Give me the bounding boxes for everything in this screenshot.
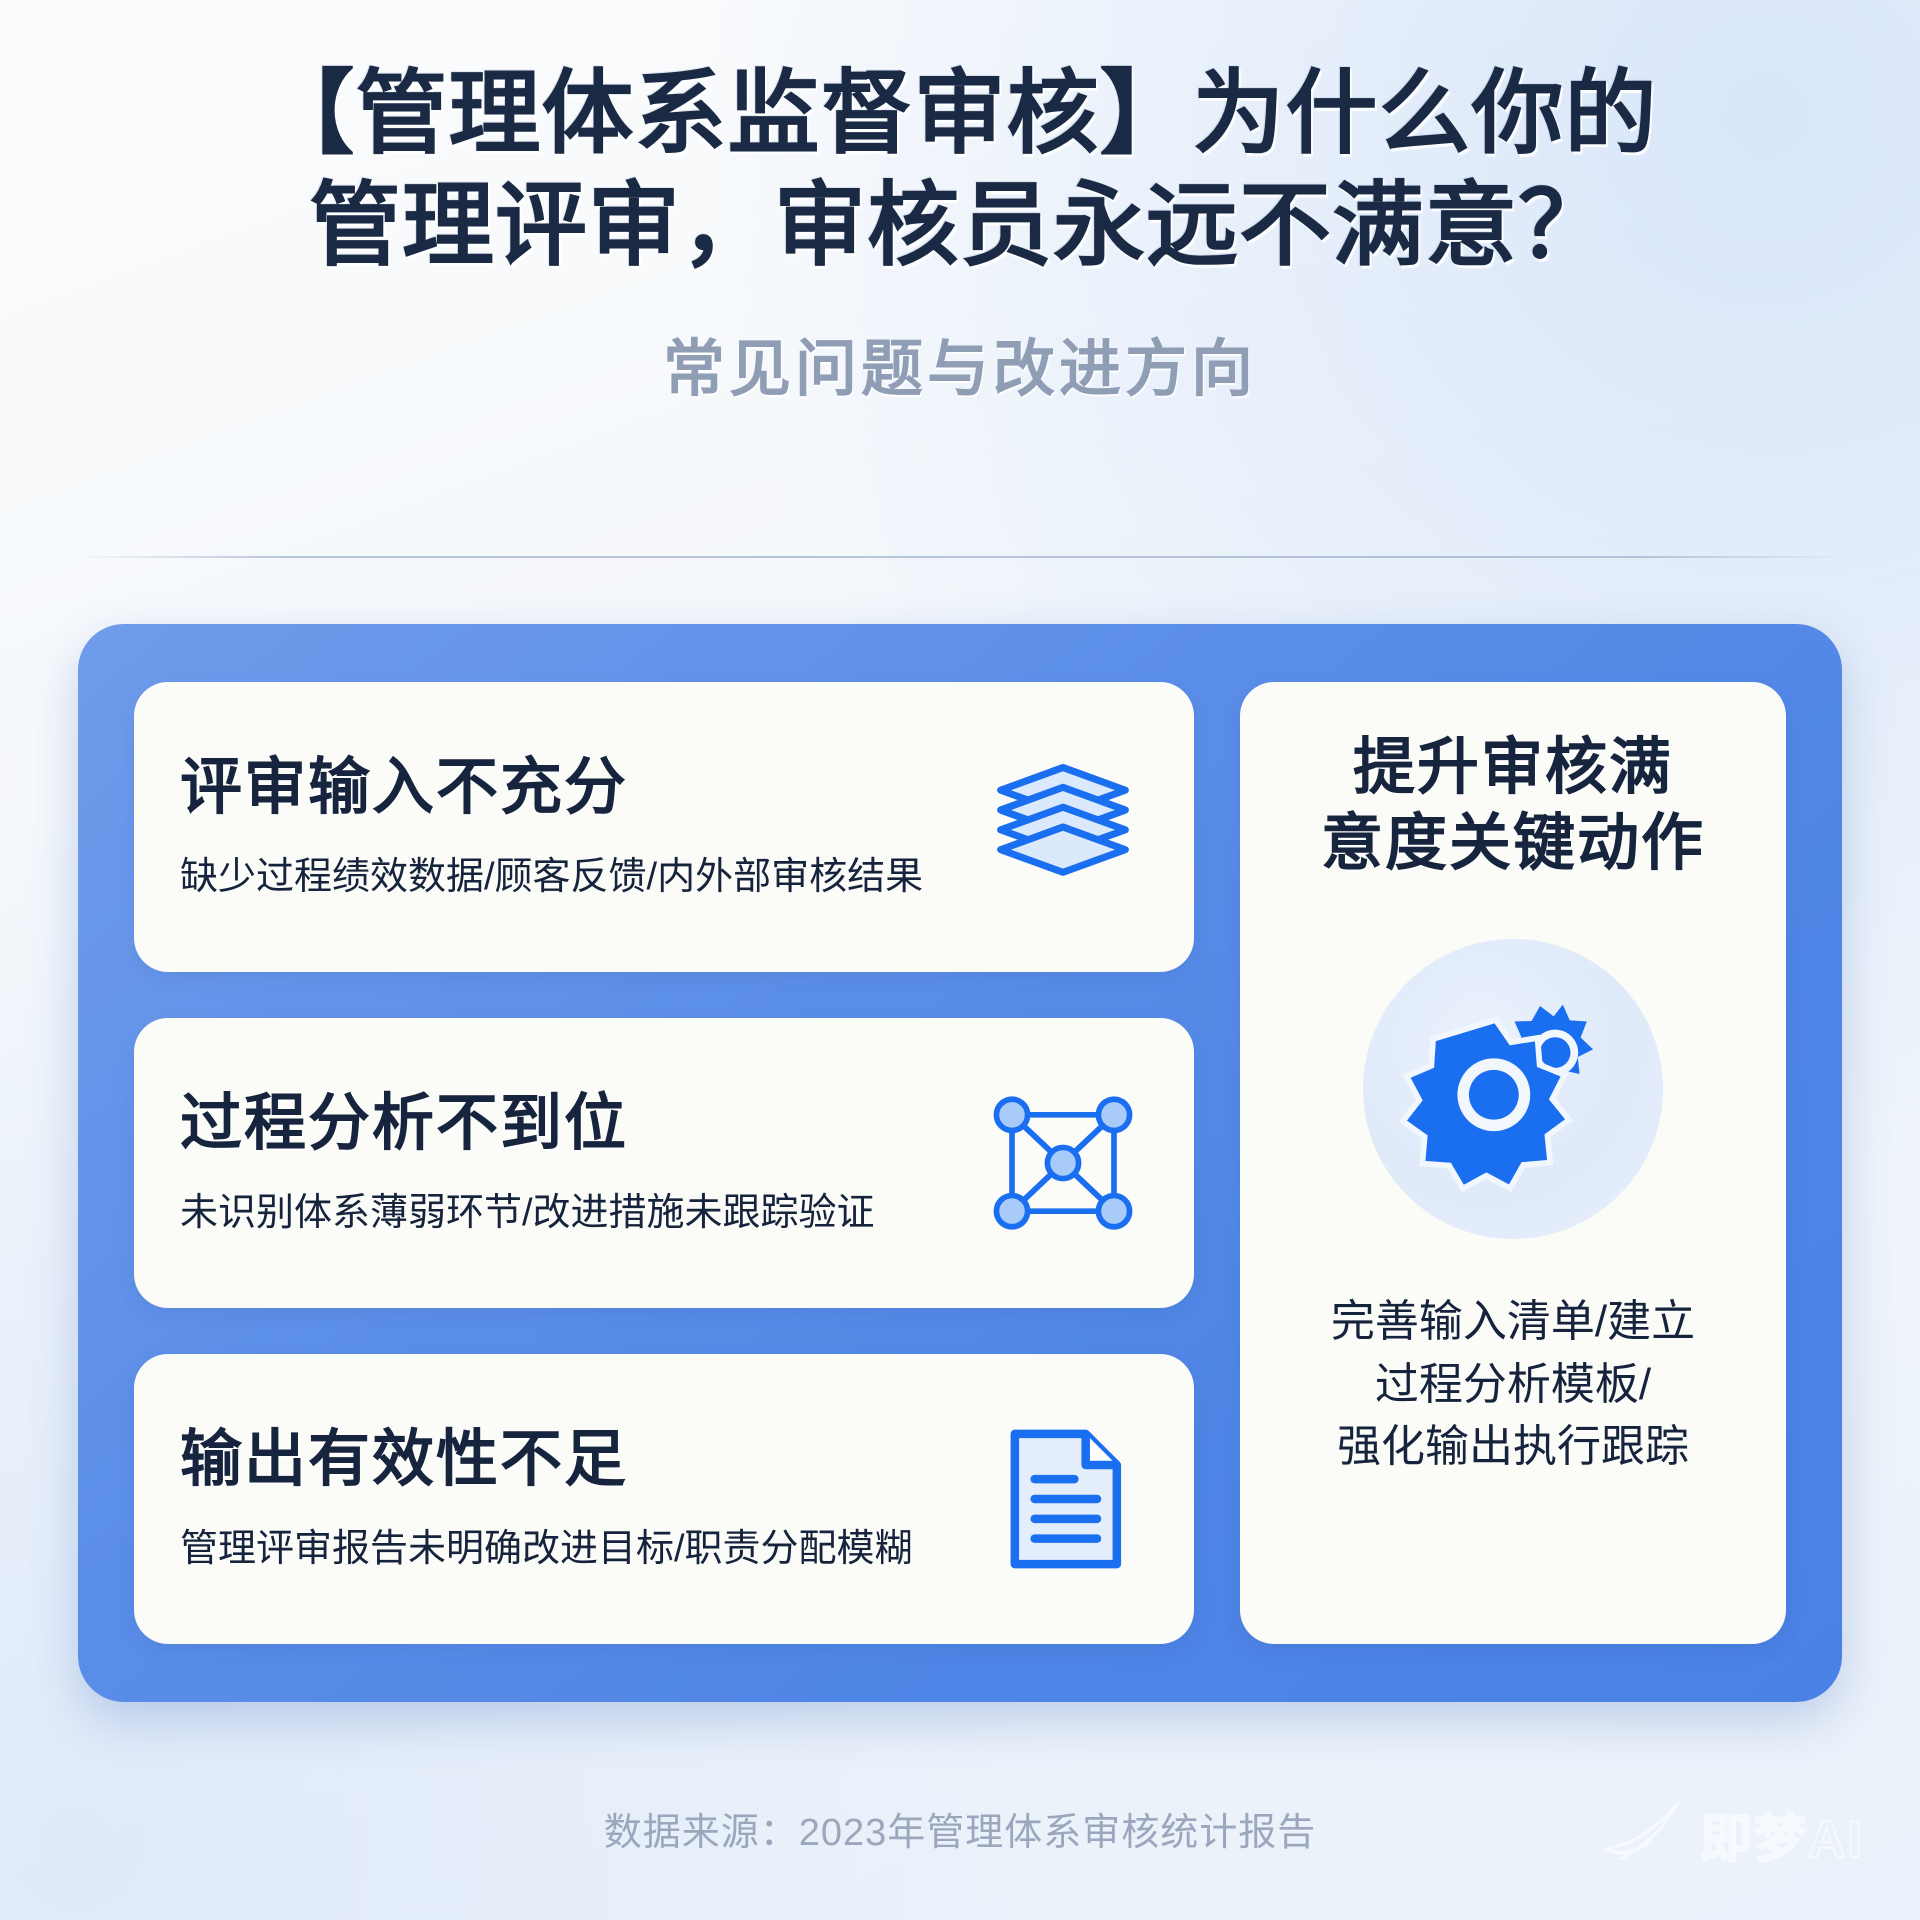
page-title-line-1: 【管理体系监督审核】为什么你的 [0, 58, 1920, 170]
issue-heading: 输出有效性不足 [180, 1426, 913, 1494]
network-nodes-icon [978, 1078, 1148, 1248]
solution-body-line-2: 过程分析模板/ [1331, 1354, 1695, 1416]
issue-card: 输出有效性不足 管理评审报告未明确改进目标/职责分配模糊 [134, 1354, 1194, 1644]
issues-column: 评审输入不充分 缺少过程绩效数据/顾客反馈/内外部审核结果 [134, 682, 1194, 1644]
solution-body-line-3: 强化输出执行跟踪 [1331, 1416, 1695, 1478]
header: 【管理体系监督审核】为什么你的 管理评审，审核员永远不满意？ 常见问题与改进方向 [0, 58, 1920, 408]
stacked-papers-icon [978, 742, 1148, 912]
solution-heading-line-2: 意度关键动作 [1321, 806, 1705, 882]
infographic-page: 【管理体系监督审核】为什么你的 管理评审，审核员永远不满意？ 常见问题与改进方向… [0, 0, 1920, 1920]
issue-detail: 未识别体系薄弱环节/改进措施未跟踪验证 [180, 1181, 875, 1236]
solution-heading: 提升审核满 意度关键动作 [1321, 730, 1705, 881]
header-divider [72, 556, 1848, 558]
issue-card-text: 评审输入不充分 缺少过程绩效数据/顾客反馈/内外部审核结果 [180, 754, 923, 899]
watermark-text: 即梦AI [1700, 1797, 1864, 1872]
content-panel: 评审输入不充分 缺少过程绩效数据/顾客反馈/内外部审核结果 [78, 624, 1842, 1702]
watermark: 即梦AI [1600, 1797, 1864, 1872]
issue-card: 评审输入不充分 缺少过程绩效数据/顾客反馈/内外部审核结果 [134, 682, 1194, 972]
issue-card-text: 输出有效性不足 管理评审报告未明确改进目标/职责分配模糊 [180, 1426, 913, 1571]
issue-heading: 评审输入不充分 [180, 754, 923, 822]
page-title-line-2: 管理评审，审核员永远不满意？ [0, 170, 1920, 282]
solution-heading-line-1: 提升审核满 [1321, 730, 1705, 806]
issue-card: 过程分析不到位 未识别体系薄弱环节/改进措施未跟踪验证 [134, 1018, 1194, 1308]
gears-icon [1363, 939, 1663, 1239]
solution-body: 完善输入清单/建立 过程分析模板/ 强化输出执行跟踪 [1331, 1291, 1695, 1478]
issue-detail: 缺少过程绩效数据/顾客反馈/内外部审核结果 [180, 845, 923, 900]
issue-detail: 管理评审报告未明确改进目标/职责分配模糊 [180, 1517, 913, 1572]
solution-body-line-1: 完善输入清单/建立 [1331, 1291, 1695, 1353]
solution-card: 提升审核满 意度关键动作 [1240, 682, 1786, 1644]
solution-column: 提升审核满 意度关键动作 [1240, 682, 1786, 1644]
issue-card-text: 过程分析不到位 未识别体系薄弱环节/改进措施未跟踪验证 [180, 1090, 875, 1235]
star-swoosh-icon [1600, 1797, 1684, 1872]
document-lines-icon [978, 1414, 1148, 1584]
page-subtitle: 常见问题与改进方向 [0, 318, 1920, 408]
issue-heading: 过程分析不到位 [180, 1090, 875, 1158]
